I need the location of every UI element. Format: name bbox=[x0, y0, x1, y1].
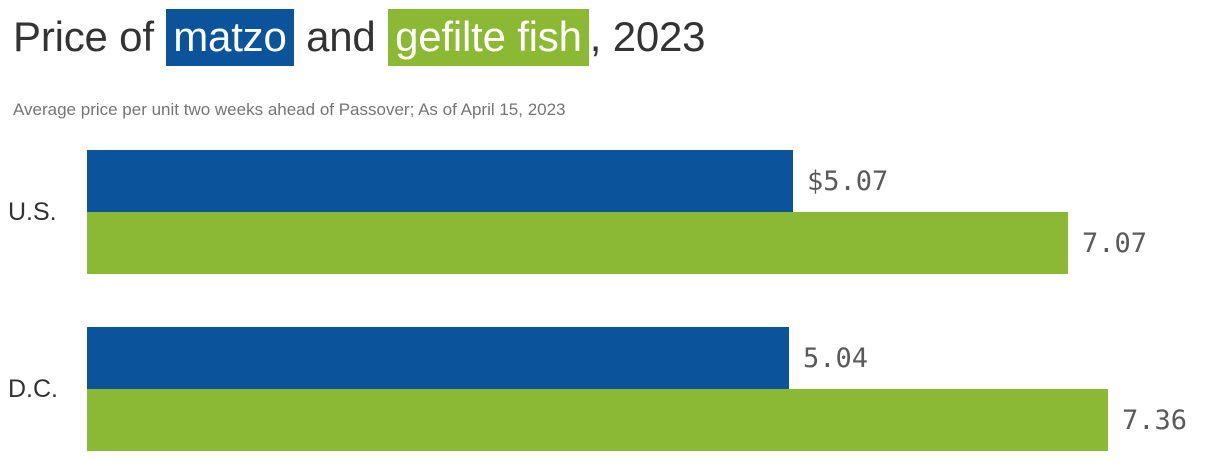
bar-dc-matzo[interactable] bbox=[87, 327, 789, 389]
bar-value-us-gefilte-fish: 7.07 bbox=[1068, 212, 1147, 274]
bar-group-dc: D.C. 5.04 7.36 bbox=[0, 327, 1220, 466]
title-highlight-matzo: matzo bbox=[166, 9, 293, 66]
title-middle: and bbox=[295, 13, 387, 60]
title-suffix: , 2023 bbox=[590, 13, 706, 60]
chart-title: Price of matzo and gefilte fish, 2023 bbox=[13, 9, 705, 65]
bar-value-us-matzo: $5.07 bbox=[793, 150, 888, 212]
category-label-us: U.S. bbox=[8, 198, 76, 226]
title-highlight-gefilte-fish: gefilte fish bbox=[388, 9, 589, 66]
bar-value-dc-gefilte-fish: 7.36 bbox=[1108, 389, 1187, 451]
bar-value-dc-matzo: 5.04 bbox=[789, 327, 868, 389]
chart-canvas: Price of matzo and gefilte fish, 2023 Av… bbox=[0, 0, 1220, 466]
bar-dc-gefilte-fish[interactable] bbox=[87, 389, 1108, 451]
bar-us-matzo[interactable] bbox=[87, 150, 793, 212]
category-label-dc: D.C. bbox=[8, 375, 76, 403]
chart-subtitle: Average price per unit two weeks ahead o… bbox=[13, 99, 566, 121]
plot-area: U.S. $5.07 7.07 D.C. 5.04 7.36 bbox=[0, 140, 1220, 466]
bar-us-gefilte-fish[interactable] bbox=[87, 212, 1068, 274]
bar-group-us: U.S. $5.07 7.07 bbox=[0, 150, 1220, 274]
title-prefix: Price of bbox=[13, 13, 165, 60]
